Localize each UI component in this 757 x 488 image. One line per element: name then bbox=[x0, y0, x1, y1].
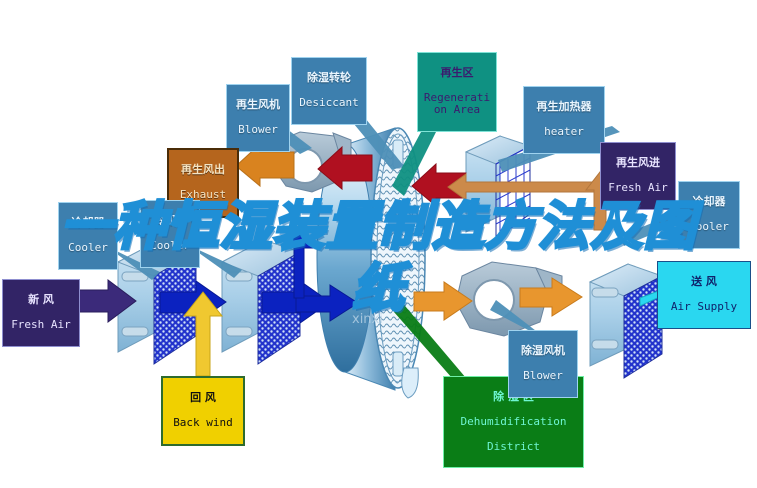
faint-watermark: xinxi bbox=[352, 312, 383, 327]
desiccant-cn: 除湿转轮 bbox=[296, 72, 362, 84]
label-cooler-left-2: 冷却器 Cooler bbox=[140, 200, 200, 268]
regen-area-cn: 再生区 bbox=[422, 67, 492, 79]
regen-hot-arrow-1 bbox=[318, 147, 372, 189]
label-regen-fresh-air: 再生风进 Fresh Air bbox=[600, 142, 676, 210]
dehumidifier-diagram: xinxi 再生风机 Blower 除湿转轮 Desiccant 再生区 Reg… bbox=[0, 0, 757, 488]
regen-air-in-arrow bbox=[448, 174, 604, 200]
heater-coil bbox=[466, 136, 530, 238]
blower-regen-en: Blower bbox=[231, 124, 285, 136]
label-cooler-right: 冷却器 Cooler bbox=[678, 181, 740, 249]
label-regen-heater: 再生加热器 heater bbox=[523, 86, 605, 154]
heater-cn: 再生加热器 bbox=[528, 101, 600, 113]
desiccant-en: Desiccant bbox=[296, 97, 362, 109]
label-desiccant-wheel: 除湿转轮 Desiccant bbox=[291, 57, 367, 125]
dehumid-en1: Dehumidification bbox=[448, 416, 579, 428]
drain-pan bbox=[402, 368, 419, 398]
regen-fresh-cn: 再生风进 bbox=[605, 157, 671, 169]
label-blower-dehumid: 除湿风机 Blower bbox=[508, 330, 578, 398]
label-fresh-air-in: 新 风 Fresh Air bbox=[2, 279, 80, 347]
cooler-right-en: Cooler bbox=[683, 221, 735, 233]
dehumid-en2: District bbox=[448, 441, 579, 453]
regen-area-en: Regenerati on Area bbox=[422, 92, 492, 117]
back-wind-en: Back wind bbox=[167, 417, 239, 429]
blower-dehumid-en: Blower bbox=[513, 370, 573, 382]
regen-hot-arrow-2 bbox=[412, 164, 466, 206]
cooler-l1-en: Cooler bbox=[63, 242, 113, 254]
cooler-l1-cn: 冷却器 bbox=[63, 217, 113, 229]
blower-dehumid-cn: 除湿风机 bbox=[513, 345, 573, 357]
leader-blower-dehumid bbox=[490, 300, 540, 334]
air-supply-en: Air Supply bbox=[662, 301, 746, 313]
label-cooler-left-1: 冷却器 Cooler bbox=[58, 202, 118, 270]
cooler-l2-cn: 冷却器 bbox=[145, 215, 195, 227]
air-supply-cn: 送 风 bbox=[662, 276, 746, 288]
back-wind-arrow bbox=[184, 292, 222, 376]
process-arrow-3 bbox=[296, 285, 358, 321]
cooler-coil-2 bbox=[222, 240, 300, 364]
cooler-l2-en: Cooler bbox=[145, 240, 195, 252]
label-blower-regen: 再生风机 Blower bbox=[226, 84, 290, 152]
label-back-wind: 回 风 Back wind bbox=[161, 376, 245, 446]
exhaust-cn: 再生风出 bbox=[173, 164, 233, 176]
cooler-feed-arrow bbox=[284, 228, 314, 298]
cooler-right-cn: 冷却器 bbox=[683, 196, 735, 208]
heater-en: heater bbox=[528, 126, 600, 138]
fresh-air-in-arrow bbox=[78, 280, 136, 322]
dehumid-out-arrow-2 bbox=[520, 278, 582, 316]
label-regeneration-area: 再生区 Regenerati on Area bbox=[417, 52, 497, 132]
process-arrow-1 bbox=[160, 281, 226, 323]
regen-fresh-en: Fresh Air bbox=[605, 182, 671, 194]
cooler-coil-3 bbox=[590, 264, 662, 378]
fresh-air-en: Fresh Air bbox=[7, 319, 75, 331]
back-wind-cn: 回 风 bbox=[167, 392, 239, 404]
blower-regen-cn: 再生风机 bbox=[231, 99, 285, 111]
dehumid-out-arrow-1 bbox=[414, 282, 472, 320]
leader-dehumid-district bbox=[394, 300, 466, 378]
label-air-supply: 送 风 Air Supply bbox=[657, 261, 751, 329]
dehumid-blower bbox=[456, 262, 562, 336]
fresh-air-cn: 新 风 bbox=[7, 294, 75, 306]
desiccant-rotor bbox=[317, 128, 425, 398]
process-arrow-2 bbox=[262, 281, 330, 323]
